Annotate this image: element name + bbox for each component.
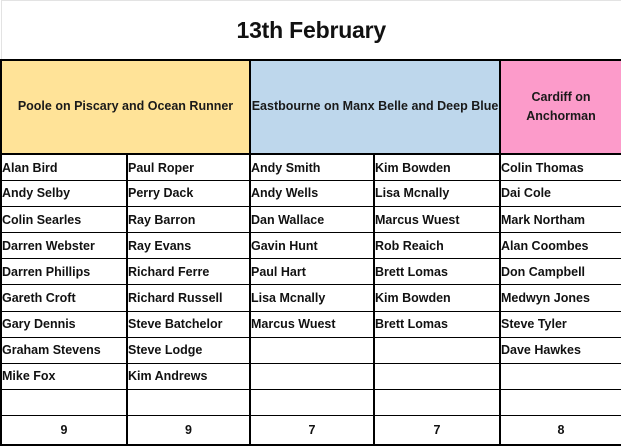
name-cell: Steve Tyler (500, 311, 621, 337)
name-cell: Colin Thomas (500, 154, 621, 180)
name-cell: Brett Lomas (374, 311, 500, 337)
totals-row: 9 9 7 7 8 (1, 416, 621, 445)
name-cell: Mark Northam (500, 207, 621, 233)
total-cell: 9 (127, 416, 250, 445)
spreadsheet-sheet: 13th February Poole on Piscary and Ocean… (0, 0, 621, 446)
name-cell (500, 363, 621, 389)
table-row: Mike Fox Kim Andrews (1, 363, 621, 389)
name-cell: Mike Fox (1, 363, 127, 389)
name-cell: Darren Webster (1, 233, 127, 259)
name-cell (127, 390, 250, 416)
name-cell: Andy Smith (250, 154, 374, 180)
name-cell: Alan Bird (1, 154, 127, 180)
name-cell: Paul Roper (127, 154, 250, 180)
group-header-poole: Poole on Piscary and Ocean Runner (1, 60, 250, 154)
name-cell (374, 363, 500, 389)
name-cell: Ray Barron (127, 207, 250, 233)
name-cell: Don Campbell (500, 259, 621, 285)
name-cell (374, 337, 500, 363)
group-header-eastbourne: Eastbourne on Manx Belle and Deep Blue (250, 60, 500, 154)
table-row: Gary Dennis Steve Batchelor Marcus Wuest… (1, 311, 621, 337)
name-cell: Steve Batchelor (127, 311, 250, 337)
name-cell: Perry Dack (127, 180, 250, 206)
name-cell: Marcus Wuest (374, 207, 500, 233)
table-row: Colin Searles Ray Barron Dan Wallace Mar… (1, 207, 621, 233)
name-cell (500, 390, 621, 416)
name-cell: Medwyn Jones (500, 285, 621, 311)
title-row: 13th February (1, 1, 621, 61)
table-row: Darren Phillips Richard Ferre Paul Hart … (1, 259, 621, 285)
name-cell: Andy Wells (250, 180, 374, 206)
total-cell: 8 (500, 416, 621, 445)
name-cell: Colin Searles (1, 207, 127, 233)
name-cell (250, 390, 374, 416)
name-cell: Gareth Croft (1, 285, 127, 311)
name-cell: Gary Dennis (1, 311, 127, 337)
table-row-empty (1, 390, 621, 416)
table-body: 13th February Poole on Piscary and Ocean… (1, 1, 621, 446)
page-title: 13th February (1, 1, 621, 61)
name-cell: Graham Stevens (1, 337, 127, 363)
name-cell: Richard Ferre (127, 259, 250, 285)
name-cell (250, 337, 374, 363)
name-cell (374, 390, 500, 416)
name-cell: Brett Lomas (374, 259, 500, 285)
total-cell: 7 (374, 416, 500, 445)
name-cell: Gavin Hunt (250, 233, 374, 259)
name-cell: Steve Lodge (127, 337, 250, 363)
name-cell: Dave Hawkes (500, 337, 621, 363)
name-cell: Kim Andrews (127, 363, 250, 389)
group-header-row: Poole on Piscary and Ocean Runner Eastbo… (1, 60, 621, 154)
name-cell: Marcus Wuest (250, 311, 374, 337)
name-cell (250, 363, 374, 389)
name-cell: Rob Reaich (374, 233, 500, 259)
table-row: Gareth Croft Richard Russell Lisa Mcnall… (1, 285, 621, 311)
group-header-cardiff: Cardiff on Anchorman (500, 60, 621, 154)
name-cell: Kim Bowden (374, 285, 500, 311)
name-cell: Alan Coombes (500, 233, 621, 259)
total-cell: 7 (250, 416, 374, 445)
name-cell: Lisa Mcnally (374, 180, 500, 206)
name-cell: Lisa Mcnally (250, 285, 374, 311)
table-row: Alan Bird Paul Roper Andy Smith Kim Bowd… (1, 154, 621, 180)
name-cell: Richard Russell (127, 285, 250, 311)
name-cell: Dan Wallace (250, 207, 374, 233)
roster-table: 13th February Poole on Piscary and Ocean… (0, 0, 621, 446)
table-row: Darren Webster Ray Evans Gavin Hunt Rob … (1, 233, 621, 259)
name-cell (1, 390, 127, 416)
table-row: Graham Stevens Steve Lodge Dave Hawkes (1, 337, 621, 363)
table-row: Andy Selby Perry Dack Andy Wells Lisa Mc… (1, 180, 621, 206)
name-cell: Ray Evans (127, 233, 250, 259)
name-cell: Dai Cole (500, 180, 621, 206)
name-cell: Andy Selby (1, 180, 127, 206)
total-cell: 9 (1, 416, 127, 445)
name-cell: Darren Phillips (1, 259, 127, 285)
name-cell: Paul Hart (250, 259, 374, 285)
name-cell: Kim Bowden (374, 154, 500, 180)
